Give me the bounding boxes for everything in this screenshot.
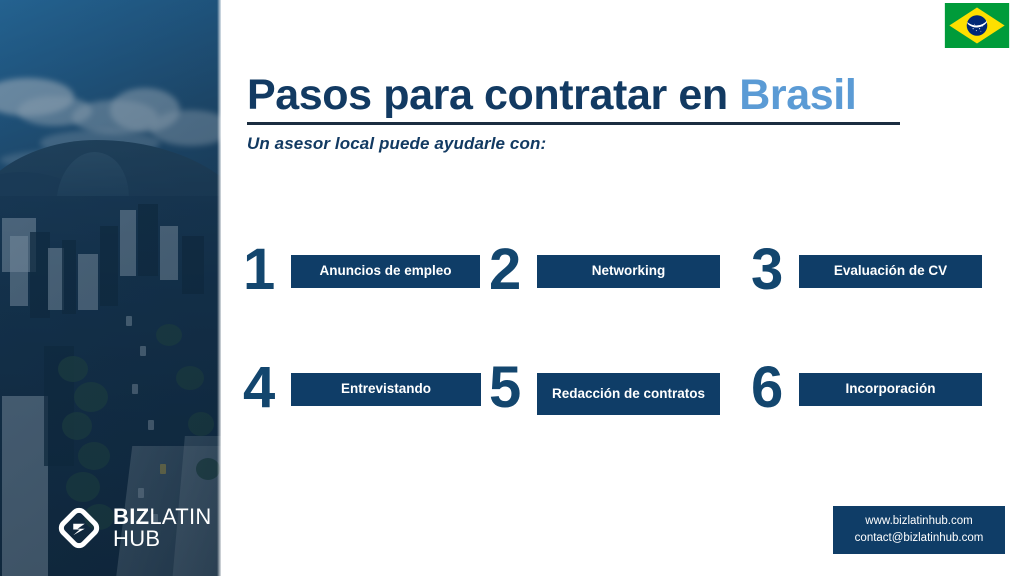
contact-website[interactable]: www.bizlatinhub.com — [839, 513, 999, 530]
photo-right-edge-fade — [217, 0, 221, 576]
logo-text-hub: HUB — [113, 528, 212, 550]
photo-blue-overlay — [0, 0, 221, 576]
slide-canvas: BIZLATIN HUB Pasos para contratar en Bra… — [0, 0, 1024, 576]
page-subtitle: Un asesor local puede ayudarle con: — [247, 134, 907, 154]
header-block: Pasos para contratar en Brasil Un asesor… — [247, 72, 907, 154]
step-label-3: Evaluación de CV — [799, 255, 982, 288]
step-label-5: Redacción de contratos — [537, 373, 720, 415]
step-label-1: Anuncios de empleo — [291, 255, 480, 288]
step-label-4: Entrevistando — [291, 373, 481, 406]
bizlatinhub-logo: BIZLATIN HUB — [56, 505, 212, 551]
page-title-main: Pasos para contratar en — [247, 71, 739, 119]
step-item-6: 6 Incorporación — [751, 361, 1005, 431]
step-label-6: Incorporación — [799, 373, 982, 406]
step-number-6: 6 — [751, 361, 797, 414]
page-title: Pasos para contratar en Brasil — [247, 72, 907, 118]
step-item-4: 4 Entrevistando — [243, 361, 489, 431]
contact-box: www.bizlatinhub.com contact@bizlatinhub.… — [833, 506, 1005, 554]
brazil-flag — [939, 3, 1015, 48]
step-number-5: 5 — [489, 361, 535, 414]
steps-grid: 1 Anuncios de empleo 2 Networking 3 Eval… — [243, 243, 1005, 431]
bizlatinhub-diamond-logo-icon — [56, 505, 102, 551]
step-number-1: 1 — [243, 243, 289, 296]
step-number-3: 3 — [751, 243, 797, 296]
step-item-2: 2 Networking — [489, 243, 751, 313]
step-number-4: 4 — [243, 361, 289, 414]
logo-wordmark: BIZLATIN HUB — [113, 506, 212, 549]
step-item-1: 1 Anuncios de empleo — [243, 243, 489, 313]
contact-email[interactable]: contact@bizlatinhub.com — [839, 530, 999, 547]
step-item-3: 3 Evaluación de CV — [751, 243, 1005, 313]
step-number-2: 2 — [489, 243, 535, 296]
rio-de-janeiro-cityscape-photo — [0, 0, 221, 576]
page-title-country: Brasil — [739, 71, 856, 119]
step-item-5: 5 Redacción de contratos — [489, 361, 751, 431]
title-underline-rule — [247, 122, 900, 125]
step-label-2: Networking — [537, 255, 720, 288]
